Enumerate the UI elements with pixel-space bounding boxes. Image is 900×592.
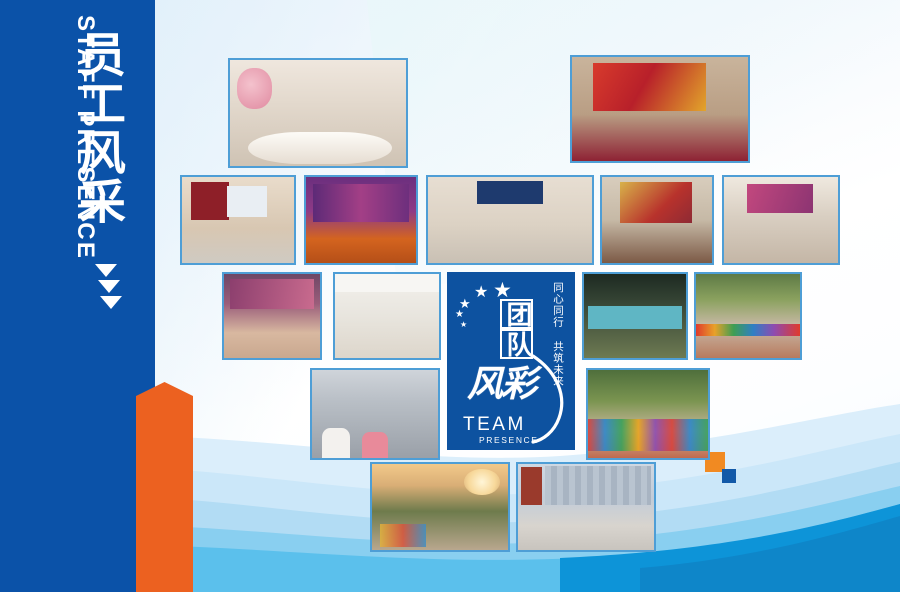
gallery-photo[interactable]: 骑行活动 bbox=[370, 462, 510, 552]
logo-team-en: TEAM bbox=[463, 414, 526, 436]
star-icon-4: ★ bbox=[455, 310, 464, 320]
gallery-photo[interactable]: 颁奖典礼 bbox=[570, 55, 750, 163]
gallery-photo[interactable]: 户外聚餐 bbox=[582, 272, 688, 360]
star-icon-1: ★ bbox=[493, 280, 512, 301]
page-title-en: STAFF PRESENCE bbox=[71, 15, 99, 305]
logo-presence-en: PRESENCE bbox=[479, 435, 539, 445]
gallery-photo[interactable]: 姐妹自拍 bbox=[310, 368, 440, 460]
gallery-photo[interactable]: 公园团建 bbox=[694, 272, 802, 360]
gallery-photo[interactable]: 签约仪式 bbox=[600, 175, 714, 265]
gallery-photo[interactable]: 户外拓展 bbox=[586, 368, 710, 460]
blue-square-icon bbox=[722, 469, 736, 483]
gallery-photo[interactable]: 部门合影 bbox=[426, 175, 594, 265]
gallery-photo[interactable]: 年度盛典 bbox=[722, 175, 840, 265]
star-icon-2: ★ bbox=[474, 285, 488, 301]
logo-word-1: 团 bbox=[500, 299, 533, 329]
gallery-photo[interactable]: 年会聚餐合影 bbox=[228, 58, 408, 168]
gallery-photo[interactable]: 生日会 bbox=[222, 272, 322, 360]
logo-word-boxed: 团队 bbox=[489, 299, 533, 359]
star-icon-5: ★ bbox=[460, 321, 467, 329]
left-title-panel: 员工风采 STAFF PRESENCE bbox=[0, 0, 155, 592]
triangle-icon-2 bbox=[98, 280, 120, 293]
gallery-photo[interactable]: 表彰大会 bbox=[180, 175, 296, 265]
team-logo-tile: ★ ★ ★ ★ ★ 团队 同心同行 共筑未来 风彩 TEAM PRESENCE bbox=[447, 272, 575, 450]
gallery-photo[interactable]: 文艺汇演 bbox=[304, 175, 418, 265]
title-block: 员工风采 STAFF PRESENCE bbox=[0, 28, 155, 368]
poster-canvas: 员工风采 STAFF PRESENCE bbox=[0, 0, 900, 592]
gallery-photo[interactable]: 项目现场 bbox=[516, 462, 656, 552]
triangle-icon-3 bbox=[100, 296, 122, 309]
orange-arrow-shape bbox=[136, 382, 193, 592]
gallery-photo[interactable]: 办公室庆生 bbox=[333, 272, 441, 360]
